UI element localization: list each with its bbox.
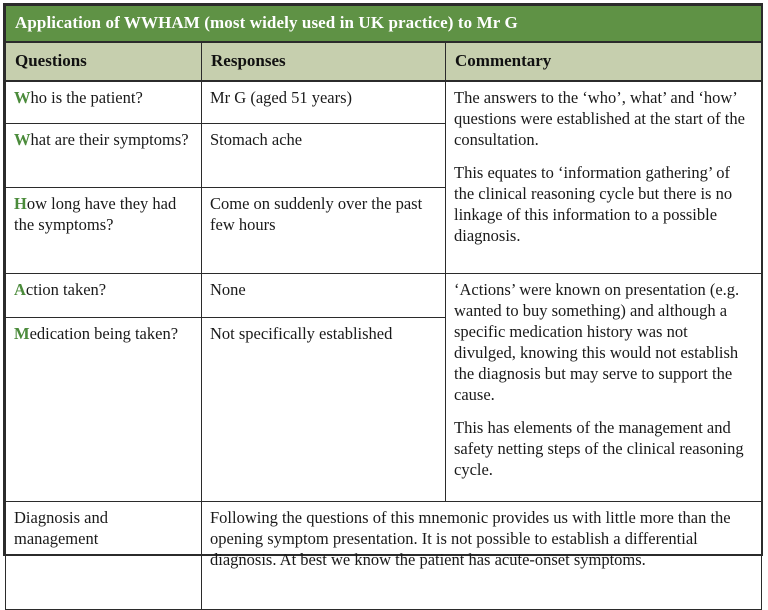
commentary-cell-second: ‘Actions’ were known on presentation (e.… (446, 273, 762, 501)
commentary-paragraph-1: The answers to the ‘who’, what’ and ‘how… (454, 87, 753, 150)
question-text-medication: edication being taken? (30, 324, 178, 343)
response-cell-who: Mr G (aged 51 years) (202, 81, 446, 124)
column-header-questions: Questions (6, 42, 202, 81)
mnemonic-letter-a: A (14, 280, 26, 299)
response-cell-action: None (202, 273, 446, 317)
diagnosis-text: Following the questions of this mnemonic… (202, 501, 762, 609)
mnemonic-letter-w2: W (14, 130, 31, 149)
commentary-cell-first: The answers to the ‘who’, what’ and ‘how… (446, 81, 762, 274)
mnemonic-letter-m: M (14, 324, 30, 343)
table-row-diagnosis: Diagnosis and management Following the q… (6, 501, 762, 609)
response-cell-how: Come on suddenly over the past few hours (202, 187, 446, 273)
column-header-responses: Responses (202, 42, 446, 81)
wwham-table-container: Application of WWHAM (most widely used i… (3, 3, 763, 556)
table-row: Action taken? None ‘Actions’ were known … (6, 273, 762, 317)
table-title: Application of WWHAM (most widely used i… (6, 6, 762, 42)
question-cell-how: How long have they had the symptoms? (6, 187, 202, 273)
response-cell-what: Stomach ache (202, 123, 446, 187)
diagnosis-paragraph: Following the questions of this mnemonic… (210, 507, 753, 570)
question-cell-medication: Medication being taken? (6, 317, 202, 501)
commentary-paragraph-4: This has elements of the management and … (454, 417, 753, 480)
question-text-what: hat are their symptoms? (31, 130, 189, 149)
question-cell-action: Action taken? (6, 273, 202, 317)
question-text-action: ction taken? (26, 280, 106, 299)
wwham-table: Application of WWHAM (most widely used i… (5, 5, 762, 610)
table-header-row: Questions Responses Commentary (6, 42, 762, 81)
question-cell-who: Who is the patient? (6, 81, 202, 124)
mnemonic-letter-h: H (14, 194, 27, 213)
mnemonic-letter-w1: W (14, 88, 31, 107)
question-cell-what: What are their symptoms? (6, 123, 202, 187)
commentary-paragraph-3: ‘Actions’ were known on presentation (e.… (454, 279, 753, 406)
table-row: Who is the patient? Mr G (aged 51 years)… (6, 81, 762, 124)
diagnosis-label: Diagnosis and management (6, 501, 202, 609)
question-text-who: ho is the patient? (31, 88, 143, 107)
table-title-row: Application of WWHAM (most widely used i… (6, 6, 762, 42)
question-text-how: ow long have they had the symptoms? (14, 194, 176, 234)
response-cell-medication: Not specifically established (202, 317, 446, 501)
commentary-paragraph-2: This equates to ‘information gathering’ … (454, 162, 753, 246)
column-header-commentary: Commentary (446, 42, 762, 81)
